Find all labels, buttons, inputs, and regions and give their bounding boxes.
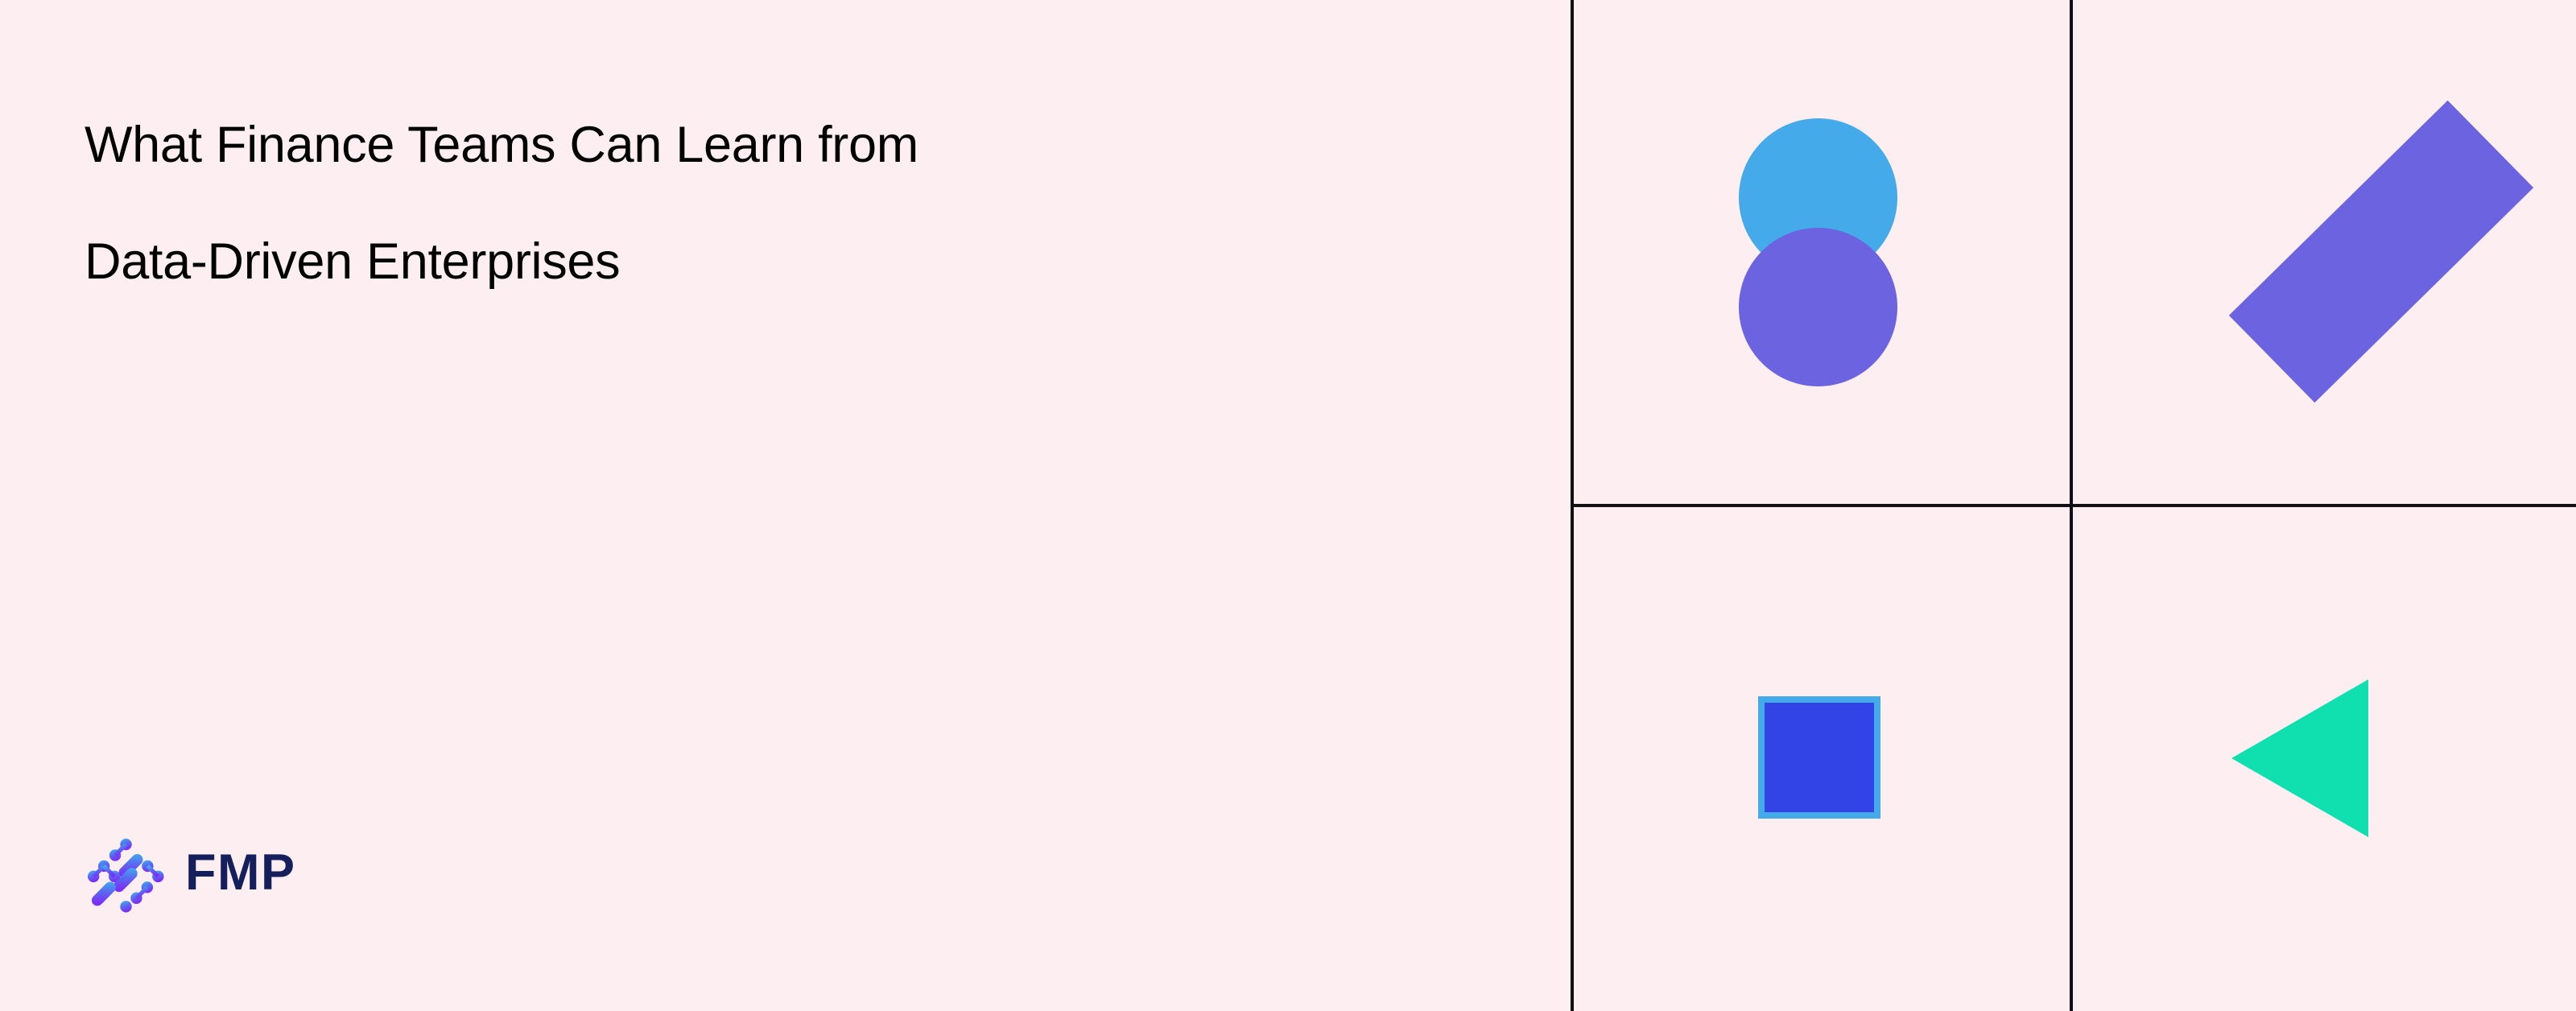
decorative-shape-grid [1571,0,2576,1011]
fmp-diamond-network-logo-icon [87,836,164,913]
brand-wordmark: FMP [185,848,295,902]
article-cover-canvas: What Finance Teams Can Learn from Data-D… [0,0,2576,1011]
circle-purple-shape [1739,228,1897,386]
rotated-rectangle-shape [2229,101,2533,402]
shape-cell-top-left [1571,0,2070,504]
bordered-square-shape [1758,696,1880,819]
shape-cell-top-right [2073,0,2576,504]
left-pointing-triangle-shape [2231,679,2368,837]
shape-cell-bottom-right [2073,507,2576,1011]
page-title: What Finance Teams Can Learn from Data-D… [85,87,1469,320]
brand-logo[interactable]: FMP [87,836,295,913]
shape-cell-bottom-left [1571,507,2070,1011]
